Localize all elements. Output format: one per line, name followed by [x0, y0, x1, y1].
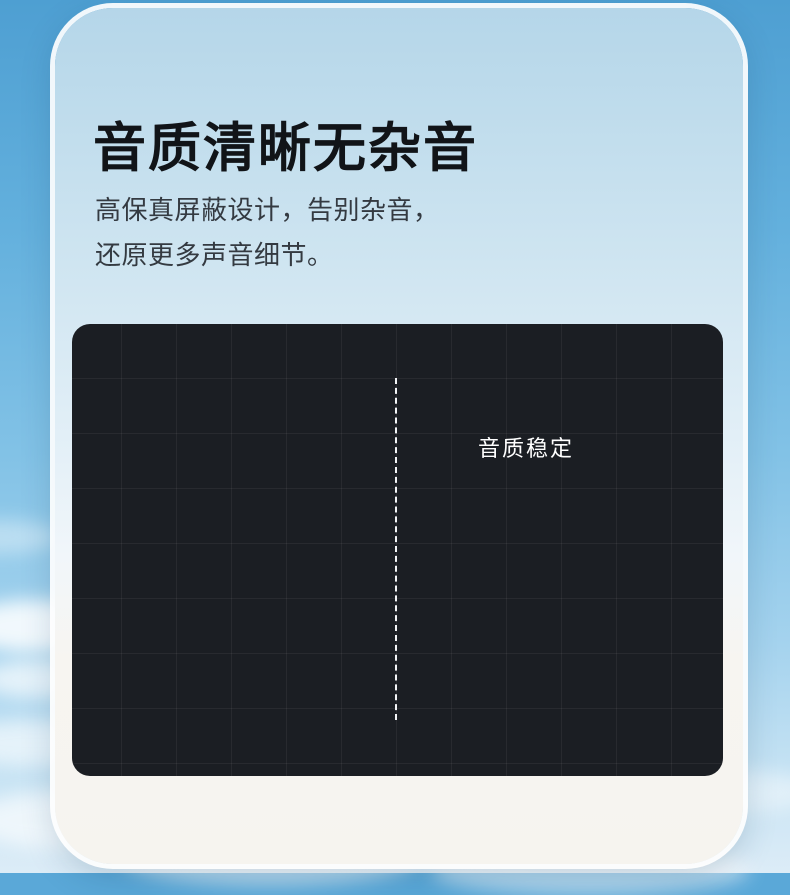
feature-card: 音质清晰无杂音 高保真屏蔽设计，告别杂音， 还原更多声音细节。 [55, 8, 743, 864]
page-title: 音质清晰无杂音 [93, 122, 478, 175]
status-badge: 音质稳定 [478, 431, 574, 463]
subtitle-line-2: 还原更多声音细节。 [95, 233, 440, 278]
waveform-panel: 音质稳定 [72, 324, 723, 776]
dashed-divider-icon [395, 378, 397, 720]
cloud-decoration [0, 520, 60, 554]
audio-waveform-icon [72, 324, 723, 776]
subtitle-line-1: 高保真屏蔽设计，告别杂音， [95, 188, 440, 233]
page-subtitle: 高保真屏蔽设计，告别杂音， 还原更多声音细节。 [95, 188, 440, 278]
waveform-layer-teal-main [96, 441, 500, 576]
